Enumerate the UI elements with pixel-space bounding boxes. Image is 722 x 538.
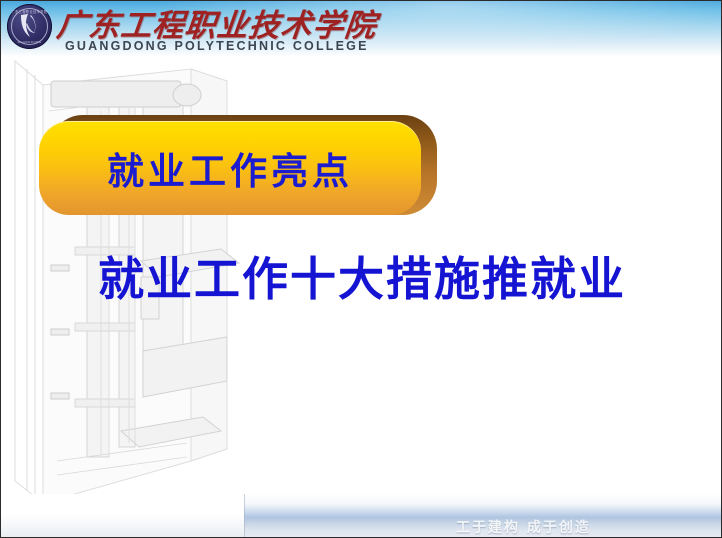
logo-swoosh-icon	[18, 12, 40, 40]
slide-header-band: 广东工程职业技术学院 GUANGDONG 广东工程职业技术学院 GUANGDON…	[1, 1, 722, 57]
footer-motto: 工于建构 成于创造	[456, 517, 591, 537]
school-name-english: GUANGDONG POLYTECHNIC COLLEGE	[65, 39, 369, 53]
footer-divider	[244, 494, 245, 538]
slide-body: 就业工作亮点 就业工作十大措施推就业	[1, 57, 722, 538]
footer-band-left	[1, 494, 244, 538]
college-logo-icon: 广东工程职业技术学院 GUANGDONG	[7, 4, 52, 49]
title-box: 就业工作亮点	[39, 121, 421, 215]
main-heading: 就业工作十大措施推就业	[1, 243, 722, 309]
logo-micro-text-bottom: GUANGDONG	[7, 40, 52, 44]
presentation-slide: 广东工程职业技术学院 GUANGDONG 广东工程职业技术学院 GUANGDON…	[0, 0, 722, 538]
title-box-label: 就业工作亮点	[39, 121, 421, 215]
